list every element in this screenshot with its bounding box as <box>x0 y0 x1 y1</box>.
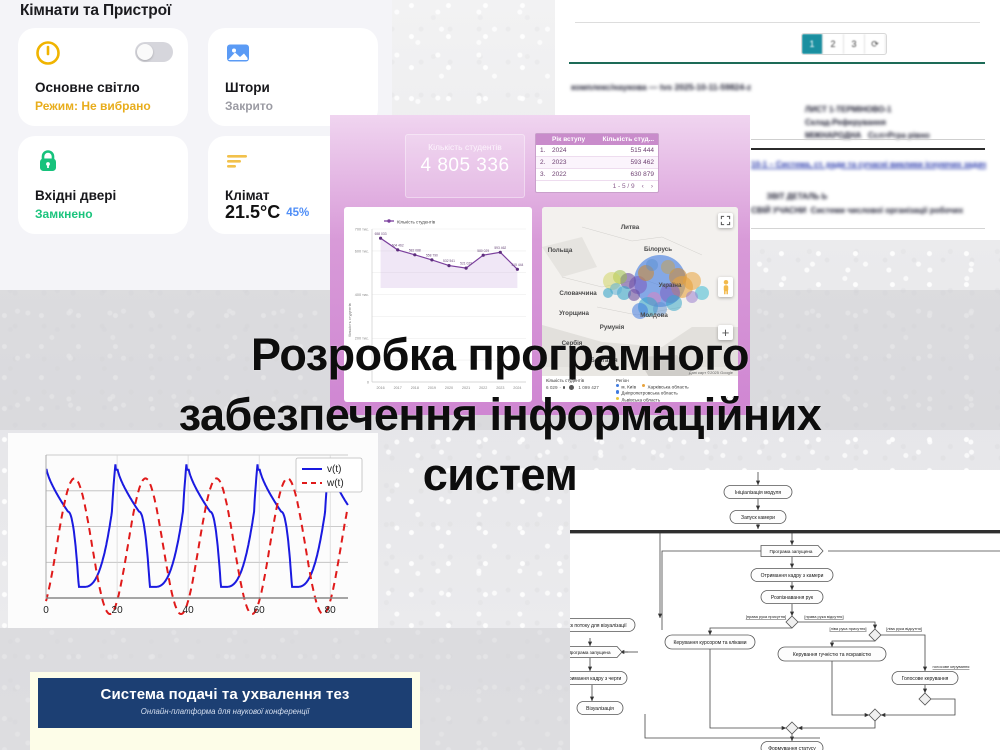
svg-text:Білорусь: Білорусь <box>644 246 672 253</box>
page-button-1[interactable]: 1 <box>802 34 823 54</box>
flow-node: Розпізнавання рук <box>761 591 823 604</box>
flow-node: Візуалізація <box>577 702 623 715</box>
svg-text:Керування курсором та кліками: Керування курсором та кліками <box>673 640 746 646</box>
svg-text:521 029: 521 029 <box>460 262 472 266</box>
row-index: 3. <box>540 171 552 178</box>
row-index: 2. <box>540 159 552 166</box>
table-pagination[interactable]: 1 - 5 / 9 ‹ › <box>536 181 658 192</box>
flow-node: Запуск камери <box>730 511 786 524</box>
svg-text:Польща: Польща <box>548 247 573 254</box>
svg-text:604 462: 604 462 <box>392 244 404 248</box>
svg-text:Програма запущена: Програма запущена <box>570 650 611 655</box>
device-name: Штори <box>225 80 270 95</box>
row-count: 515 444 <box>631 147 655 154</box>
svg-text:Формування статусу: Формування статусу <box>768 746 816 750</box>
row-year: 2022 <box>552 171 631 178</box>
flow-signal-node: Програма запущена <box>570 647 622 658</box>
doc-rule-green <box>569 62 985 64</box>
svg-text:558 790: 558 790 <box>426 254 438 258</box>
main-light-toggle[interactable] <box>135 42 173 62</box>
climate-icon <box>225 148 251 174</box>
svg-text:600 тис.: 600 тис. <box>355 249 369 253</box>
temperature-value: 21.5°C <box>225 202 280 222</box>
flow-node: Формування статусу <box>761 742 823 750</box>
svg-text:Запуск потоку для візуалізації: Запуск потоку для візуалізації <box>570 623 627 629</box>
table-row[interactable]: 2. 2023 593 462 <box>536 157 658 169</box>
conference-subtitle: Онлайн-платформа для наукової конференці… <box>38 707 412 716</box>
conference-header-bar: Система подачі та ухвалення тез Онлайн-п… <box>38 678 412 728</box>
document-pagination[interactable]: 1 2 3 ⟳ <box>801 33 887 55</box>
students-by-year-table[interactable]: Рік вступу Кількість студ... 1. 2024 515… <box>535 133 659 193</box>
flowchart-svg: Ініціалізація модуляЗапуск камериПрограм… <box>570 470 1000 750</box>
blinds-icon <box>225 40 251 66</box>
svg-text:Візуалізація: Візуалізація <box>586 706 614 712</box>
device-card-blinds[interactable]: Штори Закрито <box>208 28 378 126</box>
svg-text:Розпізнавання рук: Розпізнавання рук <box>771 595 814 601</box>
svg-text:Керування гучністю та яскравіс: Керування гучністю та яскравістю <box>793 652 872 658</box>
svg-text:Україна: Україна <box>659 282 682 289</box>
slide-title-line: Розробка програмного <box>0 325 1000 385</box>
svg-text:Запуск камери: Запуск камери <box>741 515 775 521</box>
doc-divider-top <box>575 22 980 23</box>
svg-text:20: 20 <box>112 605 124 616</box>
svg-text:голосове керування: голосове керування <box>933 664 970 669</box>
slide-title-line: забезпечення інформаційних <box>0 385 1000 445</box>
kpi-card-total-students: Кількість студентів 4 805 336 <box>405 134 525 198</box>
doc-text-block-bottom: ЗВІТ ДЕТАЛЬ ЬСВІЙ УЧАСНИ Системи числово… <box>751 190 963 217</box>
flow-node: Голосове керування <box>892 672 958 685</box>
uml-activity-diagram-panel: Ініціалізація модуляЗапуск камериПрограм… <box>570 470 1000 750</box>
humidity-value: 45% <box>286 207 309 219</box>
flow-node: Керування гучністю та яскравістю <box>778 647 886 661</box>
svg-text:Молдова: Молдова <box>640 312 668 319</box>
climate-readout: 21.5°C45% <box>225 202 309 223</box>
flow-node: Отримання кадру з камери <box>751 569 833 582</box>
fullscreen-icon[interactable] <box>718 213 733 228</box>
pagination-next-icon[interactable]: › <box>651 183 653 190</box>
doc-rule-green-2 <box>751 148 985 150</box>
svg-text:Програма запущена: Програма запущена <box>769 549 812 554</box>
slide-title-line: систем <box>0 445 1000 505</box>
device-status: Замкнено <box>35 207 93 221</box>
header-count[interactable]: Кількість студ... <box>602 136 654 143</box>
svg-text:515 444: 515 444 <box>511 263 523 267</box>
row-count: 630 879 <box>631 171 655 178</box>
row-index: 1. <box>540 147 552 154</box>
row-year: 2023 <box>552 159 631 166</box>
page-button-2[interactable]: 2 <box>823 34 844 54</box>
svg-text:[ліва рука присутня]: [ліва рука присутня] <box>829 626 866 631</box>
device-card-front-door[interactable]: Вхідні двері Замкнено <box>18 136 188 234</box>
doc-link-line[interactable]: 10-1 – Система, ст. ради та сучасні викл… <box>751 160 986 169</box>
svg-text:Угорщина: Угорщина <box>559 310 589 317</box>
street-view-pegman-icon[interactable] <box>718 277 733 297</box>
flow-node: Отримання кадру з черги <box>570 672 627 685</box>
svg-text:582 088: 582 088 <box>409 248 421 252</box>
svg-text:658 033: 658 033 <box>375 232 387 236</box>
svg-text:Отримання кадру з камери: Отримання кадру з камери <box>761 573 824 579</box>
table-row[interactable]: 3. 2022 630 879 <box>536 169 658 181</box>
fork-bar-top <box>570 530 1000 533</box>
device-card-main-light[interactable]: Основне світло Режим: Не вибрано <box>18 28 188 126</box>
svg-text:Литва: Литва <box>621 224 640 231</box>
doc-text-block-right: ЛИСТ 1-ТЕРМІНОВО-1Склад-РеферуванняМІЖНА… <box>805 103 930 143</box>
lock-icon <box>35 148 61 174</box>
doc-text-line-1: комплекс/наукова — tvs 2025-10-11-59824-… <box>571 82 751 92</box>
power-icon <box>35 40 61 66</box>
svg-text:532 541: 532 541 <box>443 259 455 263</box>
pagination-prev-icon[interactable]: ‹ <box>642 183 644 190</box>
table-row[interactable]: 1. 2024 515 444 <box>536 145 658 157</box>
pagination-range: 1 - 5 / 9 <box>613 183 635 190</box>
svg-text:Кількість студентів: Кількість студентів <box>397 219 436 224</box>
conference-platform-panel: Система подачі та ухвалення тез Онлайн-п… <box>30 672 420 750</box>
smart-home-heading: Кімнати та Пристрої <box>20 2 171 20</box>
device-name: Вхідні двері <box>35 188 116 203</box>
kpi-label: Кількість студентів <box>406 142 524 152</box>
svg-text:60: 60 <box>254 605 266 616</box>
device-name: Основне світло <box>35 80 140 95</box>
svg-text:40: 40 <box>183 605 195 616</box>
svg-text:[права рука присутня]: [права рука присутня] <box>746 614 786 619</box>
svg-text:Отримання кадру з черги: Отримання кадру з черги <box>570 676 622 682</box>
table-header-row: Рік вступу Кількість студ... <box>536 134 658 145</box>
device-status: Режим: Не вибрано <box>35 99 151 113</box>
header-year[interactable]: Рік вступу <box>552 136 602 143</box>
conference-title: Система подачі та ухвалення тез <box>38 686 412 703</box>
svg-text:593 462: 593 462 <box>494 246 506 250</box>
slide-stage: Кімнати та Пристрої Основне світло Режим… <box>0 0 1000 750</box>
kpi-value: 4 805 336 <box>406 155 524 177</box>
svg-text:400 тис.: 400 тис. <box>355 293 369 297</box>
svg-text:580 029: 580 029 <box>477 249 489 253</box>
svg-text:80: 80 <box>325 605 337 616</box>
slide-title: Розробка програмного забезпечення інформ… <box>0 325 1000 505</box>
device-name: Клімат <box>225 188 270 203</box>
page-button-3[interactable]: 3 <box>844 34 865 54</box>
device-status: Закрито <box>225 99 273 113</box>
flow-node: Запуск потоку для візуалізації <box>570 619 635 632</box>
svg-text:[ліва рука відсутня]: [ліва рука відсутня] <box>886 626 922 631</box>
svg-text:0: 0 <box>43 605 49 616</box>
flow-node: Керування курсором та кліками <box>665 635 755 649</box>
row-count: 593 462 <box>631 159 655 166</box>
row-year: 2024 <box>552 147 631 154</box>
trend-legend: Кількість студентів <box>384 219 436 224</box>
svg-text:Словаччина: Словаччина <box>559 290 597 297</box>
svg-text:700 тис.: 700 тис. <box>355 227 369 231</box>
refresh-icon[interactable]: ⟳ <box>865 34 886 54</box>
header-index <box>540 136 552 143</box>
svg-text:Голосове керування: Голосове керування <box>902 676 949 682</box>
doc-divider-bottom <box>751 228 985 229</box>
svg-text:[права рука відсутня]: [права рука відсутня] <box>804 614 843 619</box>
doc-divider-mid <box>751 139 985 140</box>
flow-signal-node: Програма запущена <box>761 546 823 557</box>
